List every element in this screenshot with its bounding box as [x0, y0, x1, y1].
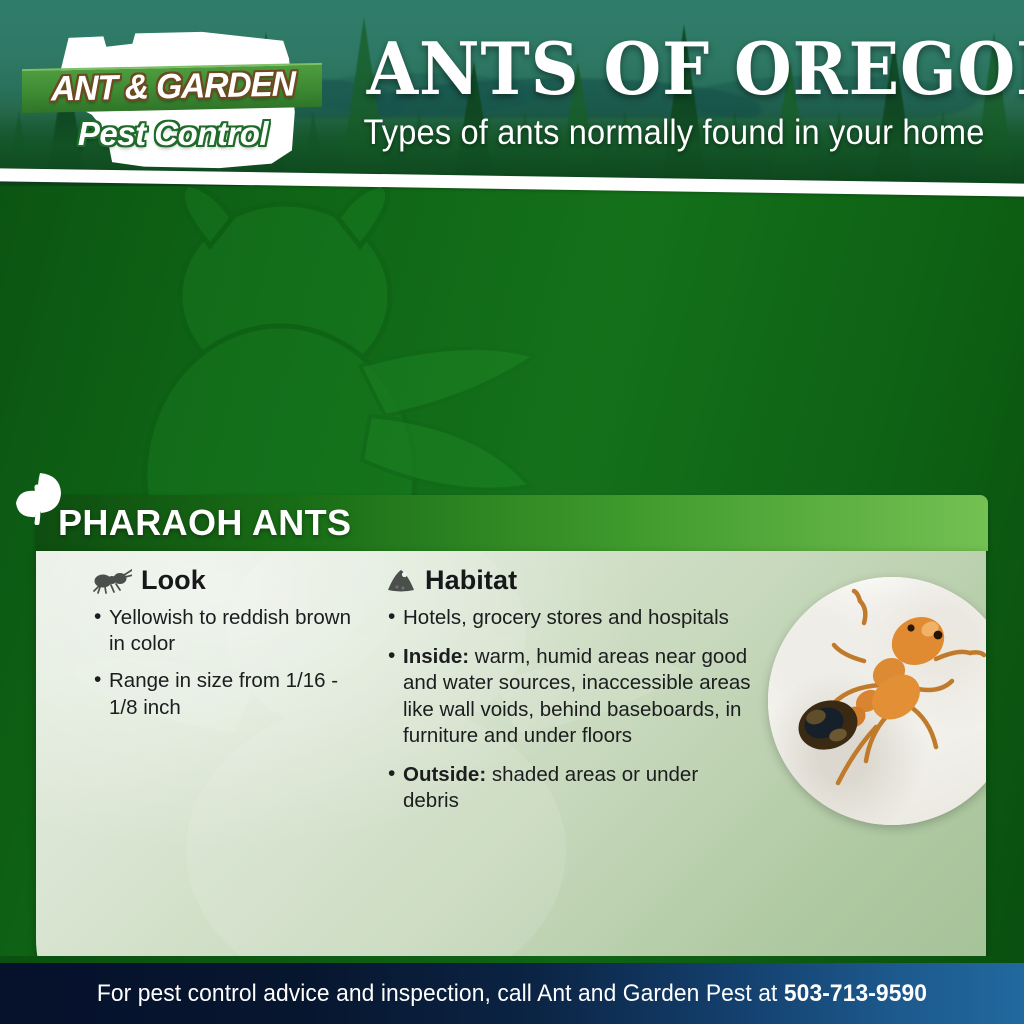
logo-line2: Pest Control — [28, 112, 318, 156]
section-look: Look Yellowish to reddish brown in color… — [92, 565, 372, 732]
footer-text: For pest control advice and inspection, … — [97, 980, 784, 1007]
bullet-text: Range in size from 1/16 - 1/8 inch — [109, 669, 338, 718]
pharaoh-ant-photo — [768, 577, 986, 825]
footer-text-group: For pest control advice and inspection, … — [97, 980, 927, 1008]
header-title-group: ANTS OF OREGON Types of ants normally fo… — [340, 34, 1008, 153]
list-item: Yellowish to reddish brown in color — [92, 605, 372, 657]
bullet-lead: Outside: — [403, 763, 486, 786]
list-item: Hotels, grocery stores and hospitals — [386, 605, 756, 631]
section-look-title: Look — [141, 565, 206, 596]
footer-phone[interactable]: 503-713-9590 — [784, 980, 927, 1007]
section-look-header: Look — [92, 565, 372, 596]
ant-silhouette-icon — [92, 568, 132, 594]
card-header-bar: PHARAOH ANTS — [36, 495, 988, 551]
bullet-text: Yellowish to reddish brown in color — [109, 606, 351, 655]
logo-line1: ANT & GARDEN — [34, 61, 312, 113]
card-title: PHARAOH ANTS — [58, 502, 351, 544]
section-habitat-list: Hotels, grocery stores and hospitals Ins… — [386, 605, 756, 815]
list-item: Inside: warm, humid areas near good and … — [386, 644, 756, 749]
section-look-list: Yellowish to reddish brown in color Rang… — [92, 605, 372, 721]
header-banner: ANT & GARDEN Pest Control ANTS OF OREGON… — [0, 0, 1024, 186]
bullet-text: Hotels, grocery stores and hospitals — [403, 606, 729, 629]
ant-species-card: PHARAOH ANTS — [36, 495, 988, 963]
page-subtitle: Types of ants normally found in your hom… — [363, 113, 984, 153]
infographic-poster: ANT & GARDEN Pest Control ANTS OF OREGON… — [0, 0, 1024, 1024]
list-item: Range in size from 1/16 - 1/8 inch — [92, 668, 372, 720]
footer-top-edge — [0, 956, 1024, 963]
section-habitat-header: Habitat — [386, 565, 756, 596]
card-body-panel: Look Yellowish to reddish brown in color… — [36, 551, 986, 963]
body-background: PHARAOH ANTS — [0, 186, 1024, 963]
divider-stripe — [0, 168, 1024, 197]
header-body-divider — [0, 168, 1024, 212]
footer-bar: For pest control advice and inspection, … — [0, 963, 1024, 1024]
anthill-mound-icon — [386, 568, 416, 594]
page-title: ANTS OF OREGON — [367, 34, 982, 103]
ant-illustration — [768, 577, 986, 825]
list-item: Outside: shaded areas or under debris — [386, 762, 756, 814]
section-habitat: Habitat Hotels, grocery stores and hospi… — [386, 565, 756, 828]
leaf-sprout-icon — [10, 467, 64, 525]
company-logo[interactable]: ANT & GARDEN Pest Control — [28, 26, 318, 174]
bullet-lead: Inside: — [403, 645, 469, 668]
section-habitat-title: Habitat — [425, 565, 517, 596]
